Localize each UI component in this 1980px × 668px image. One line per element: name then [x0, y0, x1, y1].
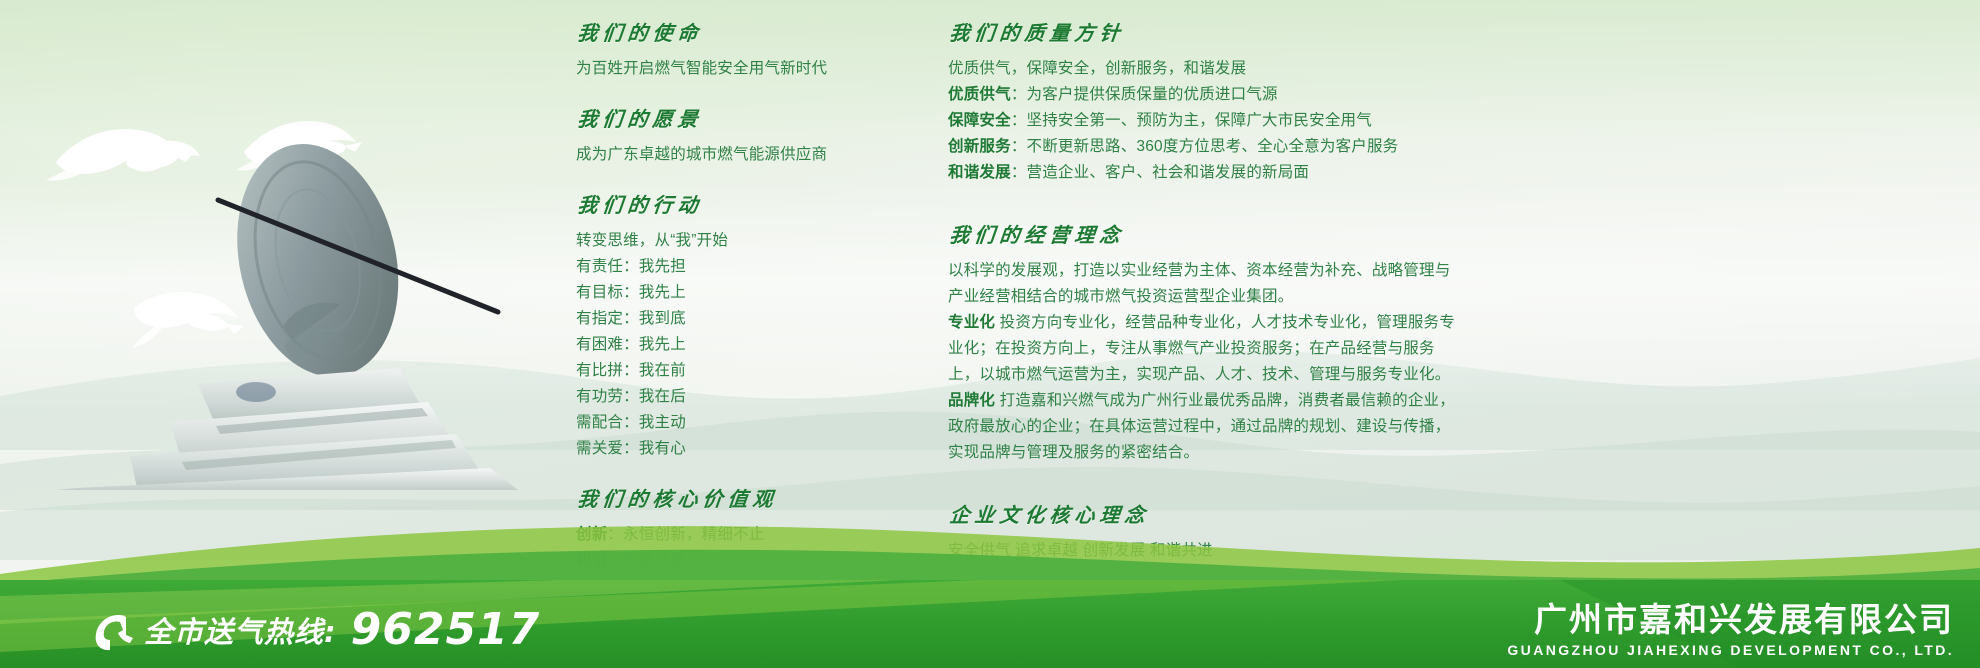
block-quality-policy: 我们的质量方针 优质供气，保障安全，创新服务，和谐发展 优质供气：为客户提供保质…: [948, 18, 1456, 186]
quality-sep: ：: [1011, 164, 1027, 181]
heading-mission: 我们的使命: [576, 18, 919, 48]
block-mission: 我们的使命 为百姓开启燃气智能安全用气新时代: [576, 18, 916, 82]
mission-line: 为百姓开启燃气智能安全用气新时代: [576, 56, 916, 82]
quality-policy-line: 优质供气，保障安全，创新服务，和谐发展: [948, 56, 1456, 82]
quality-policy-line: 创新服务：不断更新思路、360度方位思考、全心全意为客户服务: [948, 134, 1456, 160]
action-line: 转变思维，从“我”开始: [576, 228, 916, 254]
quality-text: 坚持安全第一、预防为主，保障广大市民安全用气: [1027, 112, 1372, 129]
company-name-en: GUANGZHOU JIAHEXING DEVELOPMENT CO., LTD…: [1507, 642, 1954, 658]
action-line: 有困难：我先上: [576, 332, 916, 358]
heading-quality-policy: 我们的质量方针: [948, 18, 1459, 48]
stone-sundial-monument: [20, 140, 540, 490]
management-text: 打造嘉和兴燃气成为广州行业最优秀品牌，消费者最信赖的企业，政府最放心的企业；在具…: [948, 392, 1455, 461]
telephone-handset-icon: [92, 609, 134, 651]
right-text-column: 我们的质量方针 优质供气，保障安全，创新服务，和谐发展 优质供气：为客户提供保质…: [948, 18, 1456, 586]
management-paragraph: 以科学的发展观，打造以实业经营为主体、资本经营为补充、战略管理与产业经营相结合的…: [948, 258, 1456, 310]
quality-key: 优质供气: [948, 86, 1011, 103]
quality-sep: ：: [1011, 112, 1027, 129]
management-text: 投资方向专业化，经营品种专业化，人才技术专业化，管理服务专业化；在投资方向上，专…: [948, 314, 1455, 383]
quality-key: 和谐发展: [948, 164, 1011, 181]
quality-sep: ：: [1011, 86, 1027, 103]
company-name-cn: 广州市嘉和兴发展有限公司: [1507, 602, 1954, 638]
quality-text: 营造企业、客户、社会和谐发展的新局面: [1027, 164, 1310, 181]
hotline-group: 全市送气热线: 962517: [92, 608, 540, 652]
action-line: 有责任：我先担: [576, 254, 916, 280]
heading-action: 我们的行动: [576, 190, 919, 220]
block-management-philosophy: 我们的经营理念 以科学的发展观，打造以实业经营为主体、资本经营为补充、战略管理与…: [948, 220, 1456, 466]
action-line: 需关爱：我有心: [576, 436, 916, 462]
footer-bar: 全市送气热线: 962517 广州市嘉和兴发展有限公司 GUANGZHOU JI…: [0, 580, 1980, 668]
action-line: 有目标：我先上: [576, 280, 916, 306]
hotline-label: 全市送气热线:: [144, 609, 337, 651]
quality-text: 不断更新思路、360度方位思考、全心全意为客户服务: [1027, 138, 1399, 155]
quality-policy-line: 和谐发展：营造企业、客户、社会和谐发展的新局面: [948, 160, 1456, 186]
quality-key: 创新服务: [948, 138, 1011, 155]
management-paragraph: 品牌化 打造嘉和兴燃气成为广州行业最优秀品牌，消费者最信赖的企业，政府最放心的企…: [948, 388, 1456, 466]
action-line: 需配合：我主动: [576, 410, 916, 436]
quality-sep: ：: [1011, 138, 1027, 155]
quality-key: 保障安全: [948, 112, 1011, 129]
hotline-number: 962517: [351, 608, 541, 652]
action-line: 有指定：我到底: [576, 306, 916, 332]
quality-policy-line: 保障安全：坚持安全第一、预防为主，保障广大市民安全用气: [948, 108, 1456, 134]
quality-policy-line: 优质供气：为客户提供保质保量的优质进口气源: [948, 82, 1456, 108]
heading-vision: 我们的愿景: [576, 104, 919, 134]
company-brand: 广州市嘉和兴发展有限公司 GUANGZHOU JIAHEXING DEVELOP…: [1507, 602, 1954, 658]
poster-canvas: 我们的使命 为百姓开启燃气智能安全用气新时代 我们的愿景 成为广东卓越的城市燃气…: [0, 0, 1980, 668]
management-key: 品牌化: [948, 392, 995, 409]
heading-management-philosophy: 我们的经营理念: [948, 220, 1459, 250]
block-action: 我们的行动 转变思维，从“我”开始 有责任：我先担 有目标：我先上 有指定：我到…: [576, 190, 916, 462]
vision-line: 成为广东卓越的城市燃气能源供应商: [576, 142, 916, 168]
heading-core-values: 我们的核心价值观: [576, 484, 919, 514]
action-line: 有比拼：我在前: [576, 358, 916, 384]
management-paragraph: 专业化 投资方向专业化，经营品种专业化，人才技术专业化，管理服务专业化；在投资方…: [948, 310, 1456, 388]
block-vision: 我们的愿景 成为广东卓越的城市燃气能源供应商: [576, 104, 916, 168]
action-line: 有功劳：我在后: [576, 384, 916, 410]
management-key: 专业化: [948, 314, 995, 331]
quality-text: 为客户提供保质保量的优质进口气源: [1027, 86, 1278, 103]
